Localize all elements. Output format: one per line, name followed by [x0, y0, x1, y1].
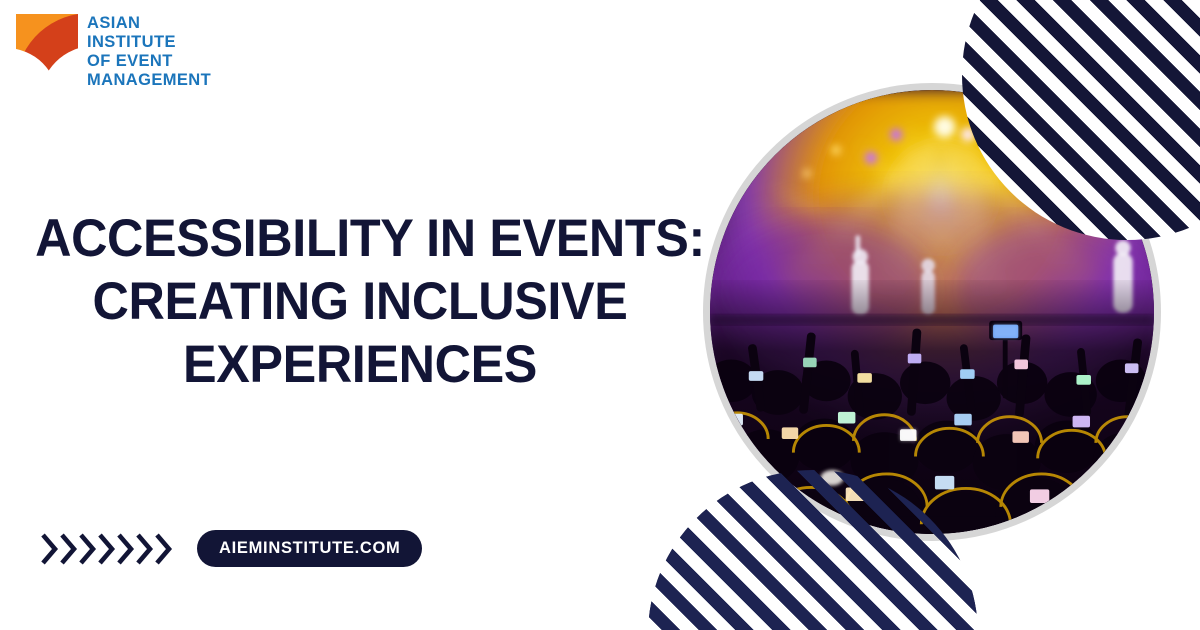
- brand-logo[interactable]: ASIAN INSTITUTE OF EVENT MANAGEMENT: [16, 8, 211, 96]
- chevron-right-icon: [97, 532, 116, 566]
- social-banner: ASIAN INSTITUTE OF EVENT MANAGEMENT: [0, 0, 1200, 630]
- website-url-pill[interactable]: AIEMINSTITUTE.COM: [197, 530, 422, 567]
- chevron-right-icon: [116, 532, 135, 566]
- chevron-arrow-group: [40, 532, 173, 566]
- chevron-right-icon: [135, 532, 154, 566]
- logo-line-4: MANAGEMENT: [87, 71, 211, 90]
- logo-wordmark: ASIAN INSTITUTE OF EVENT MANAGEMENT: [87, 14, 211, 91]
- logo-line-3: OF EVENT: [87, 52, 211, 71]
- page-title: ACCESSIBILITY IN EVENTS: CREATING INCLUS…: [18, 207, 702, 396]
- chevron-right-icon: [78, 532, 97, 566]
- headline-line-2: CREATING INCLUSIVE: [35, 270, 685, 333]
- logo-line-1: ASIAN: [87, 14, 211, 33]
- aiem-logo-mark-icon: [16, 8, 78, 96]
- footer-bar: AIEMINSTITUTE.COM: [40, 530, 422, 567]
- chevron-right-icon: [154, 532, 173, 566]
- headline-line-1: ACCESSIBILITY IN EVENTS:: [35, 207, 685, 270]
- chevron-right-icon: [59, 532, 78, 566]
- chevron-right-icon: [40, 532, 59, 566]
- logo-line-2: INSTITUTE: [87, 33, 211, 52]
- headline-line-3: EXPERIENCES: [35, 333, 685, 396]
